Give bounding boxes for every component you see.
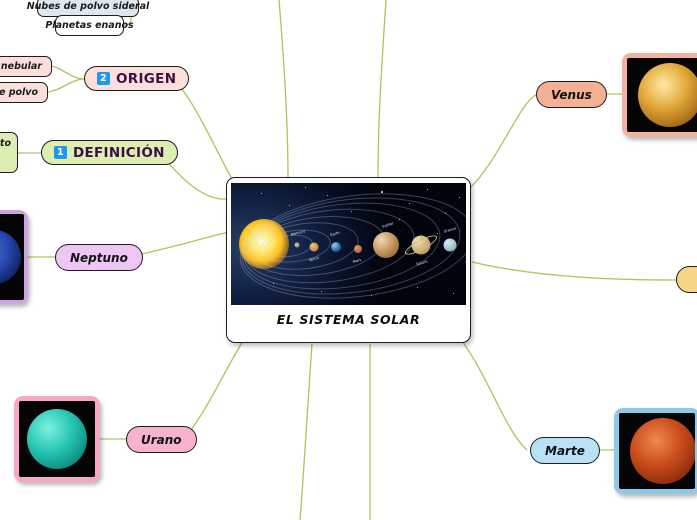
photo-marte[interactable] [614,408,697,494]
node-neptuno-label: Neptuno [70,251,128,265]
planet-venus [310,243,319,252]
edge-center-venus [468,94,538,190]
leaf-origen-1[interactable]: ótesis nebular [0,56,52,77]
leaf-nubes-polvo-sideral-label: Nubes de polvo sideral [27,1,150,12]
edge-center-up-1 [279,0,288,177]
planet-jupiter [373,232,399,258]
edge-center-origen [173,79,238,190]
photo-neptuno-image [0,214,24,300]
leaf-definicion-1[interactable]: to [0,132,18,173]
edge-center-down-1 [300,344,312,520]
branch-number-badge: 1 [54,146,67,159]
photo-urano[interactable] [14,396,100,482]
central-topic-card[interactable]: Mercury Venus Earth Mars Jupiter Saturn … [226,177,471,343]
node-urano-label: Urano [141,433,182,447]
mindmap-canvas: Mercury Venus Earth Mars Jupiter Saturn … [0,0,697,520]
photo-venus[interactable] [622,53,697,137]
branch-origen[interactable]: 2 ORIGEN [84,66,189,91]
planet-earth [331,242,341,252]
node-marte[interactable]: Marte [530,437,600,464]
node-neptuno[interactable]: Neptuno [55,244,143,271]
node-urano[interactable]: Urano [126,426,197,453]
node-venus-label: Venus [551,88,592,102]
edge-origen-leaf-1 [52,66,84,79]
edge-origen-leaf-2 [48,79,84,92]
leaf-origen-1-label: ótesis nebular [0,61,42,72]
edge-center-right [472,262,676,280]
leaf-origen-2-label: nube de polvo [0,87,38,98]
leaf-planetas-enanos-label: Planetas enanos [45,20,133,31]
central-topic-caption: EL SISTEMA SOLAR [277,312,421,327]
photo-venus-image [627,58,697,132]
leaf-planetas-enanos[interactable]: Planetas enanos [55,15,124,36]
solar-system-image: Mercury Venus Earth Mars Jupiter Saturn … [231,183,466,305]
uranus-orb [27,409,87,469]
leaf-definicion-1-label: to [0,138,11,149]
photo-urano-image [19,401,95,477]
planet-mars [354,245,362,253]
branch-definicion[interactable]: 1 DEFINICIÓN [41,140,178,165]
branch-definicion-label: DEFINICIÓN [73,145,165,161]
edge-center-up-2 [378,0,386,177]
edge-center-marte [462,341,527,450]
node-right-partial[interactable] [676,266,697,293]
neptune-orb [0,230,21,284]
mars-orb [630,418,695,484]
planet-mercury [295,243,300,248]
node-marte-label: Marte [545,444,585,458]
edge-center-urano [186,341,243,437]
photo-marte-image [619,413,695,489]
branch-number-badge: 2 [97,72,110,85]
planet-uranus [444,239,457,252]
leaf-origen-2[interactable]: nube de polvo [0,82,48,103]
branch-origen-label: ORIGEN [116,71,176,87]
venus-orb [638,63,697,127]
planet-label-neptune: Neptune [465,257,466,265]
node-venus[interactable]: Venus [536,81,607,108]
photo-neptuno[interactable] [0,210,28,304]
